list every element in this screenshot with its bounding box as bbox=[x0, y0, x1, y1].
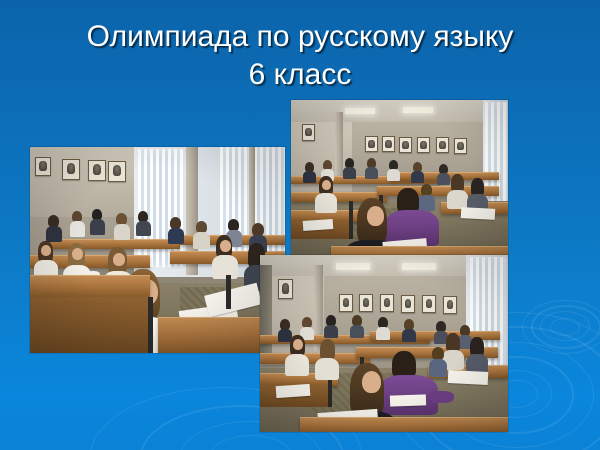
title-line-2: 6 класс bbox=[0, 56, 600, 94]
photo-classroom-students-writing-left[interactable] bbox=[30, 147, 285, 353]
photo-lecture-hall-students-bottom[interactable] bbox=[260, 255, 508, 432]
photo-lecture-hall-students-top-right[interactable] bbox=[291, 100, 508, 258]
slide-title: Олимпиада по русскому языку 6 класс bbox=[0, 18, 600, 94]
presentation-slide: Олимпиада по русскому языку 6 класс bbox=[0, 0, 600, 450]
title-line-1: Олимпиада по русскому языку bbox=[0, 18, 600, 56]
